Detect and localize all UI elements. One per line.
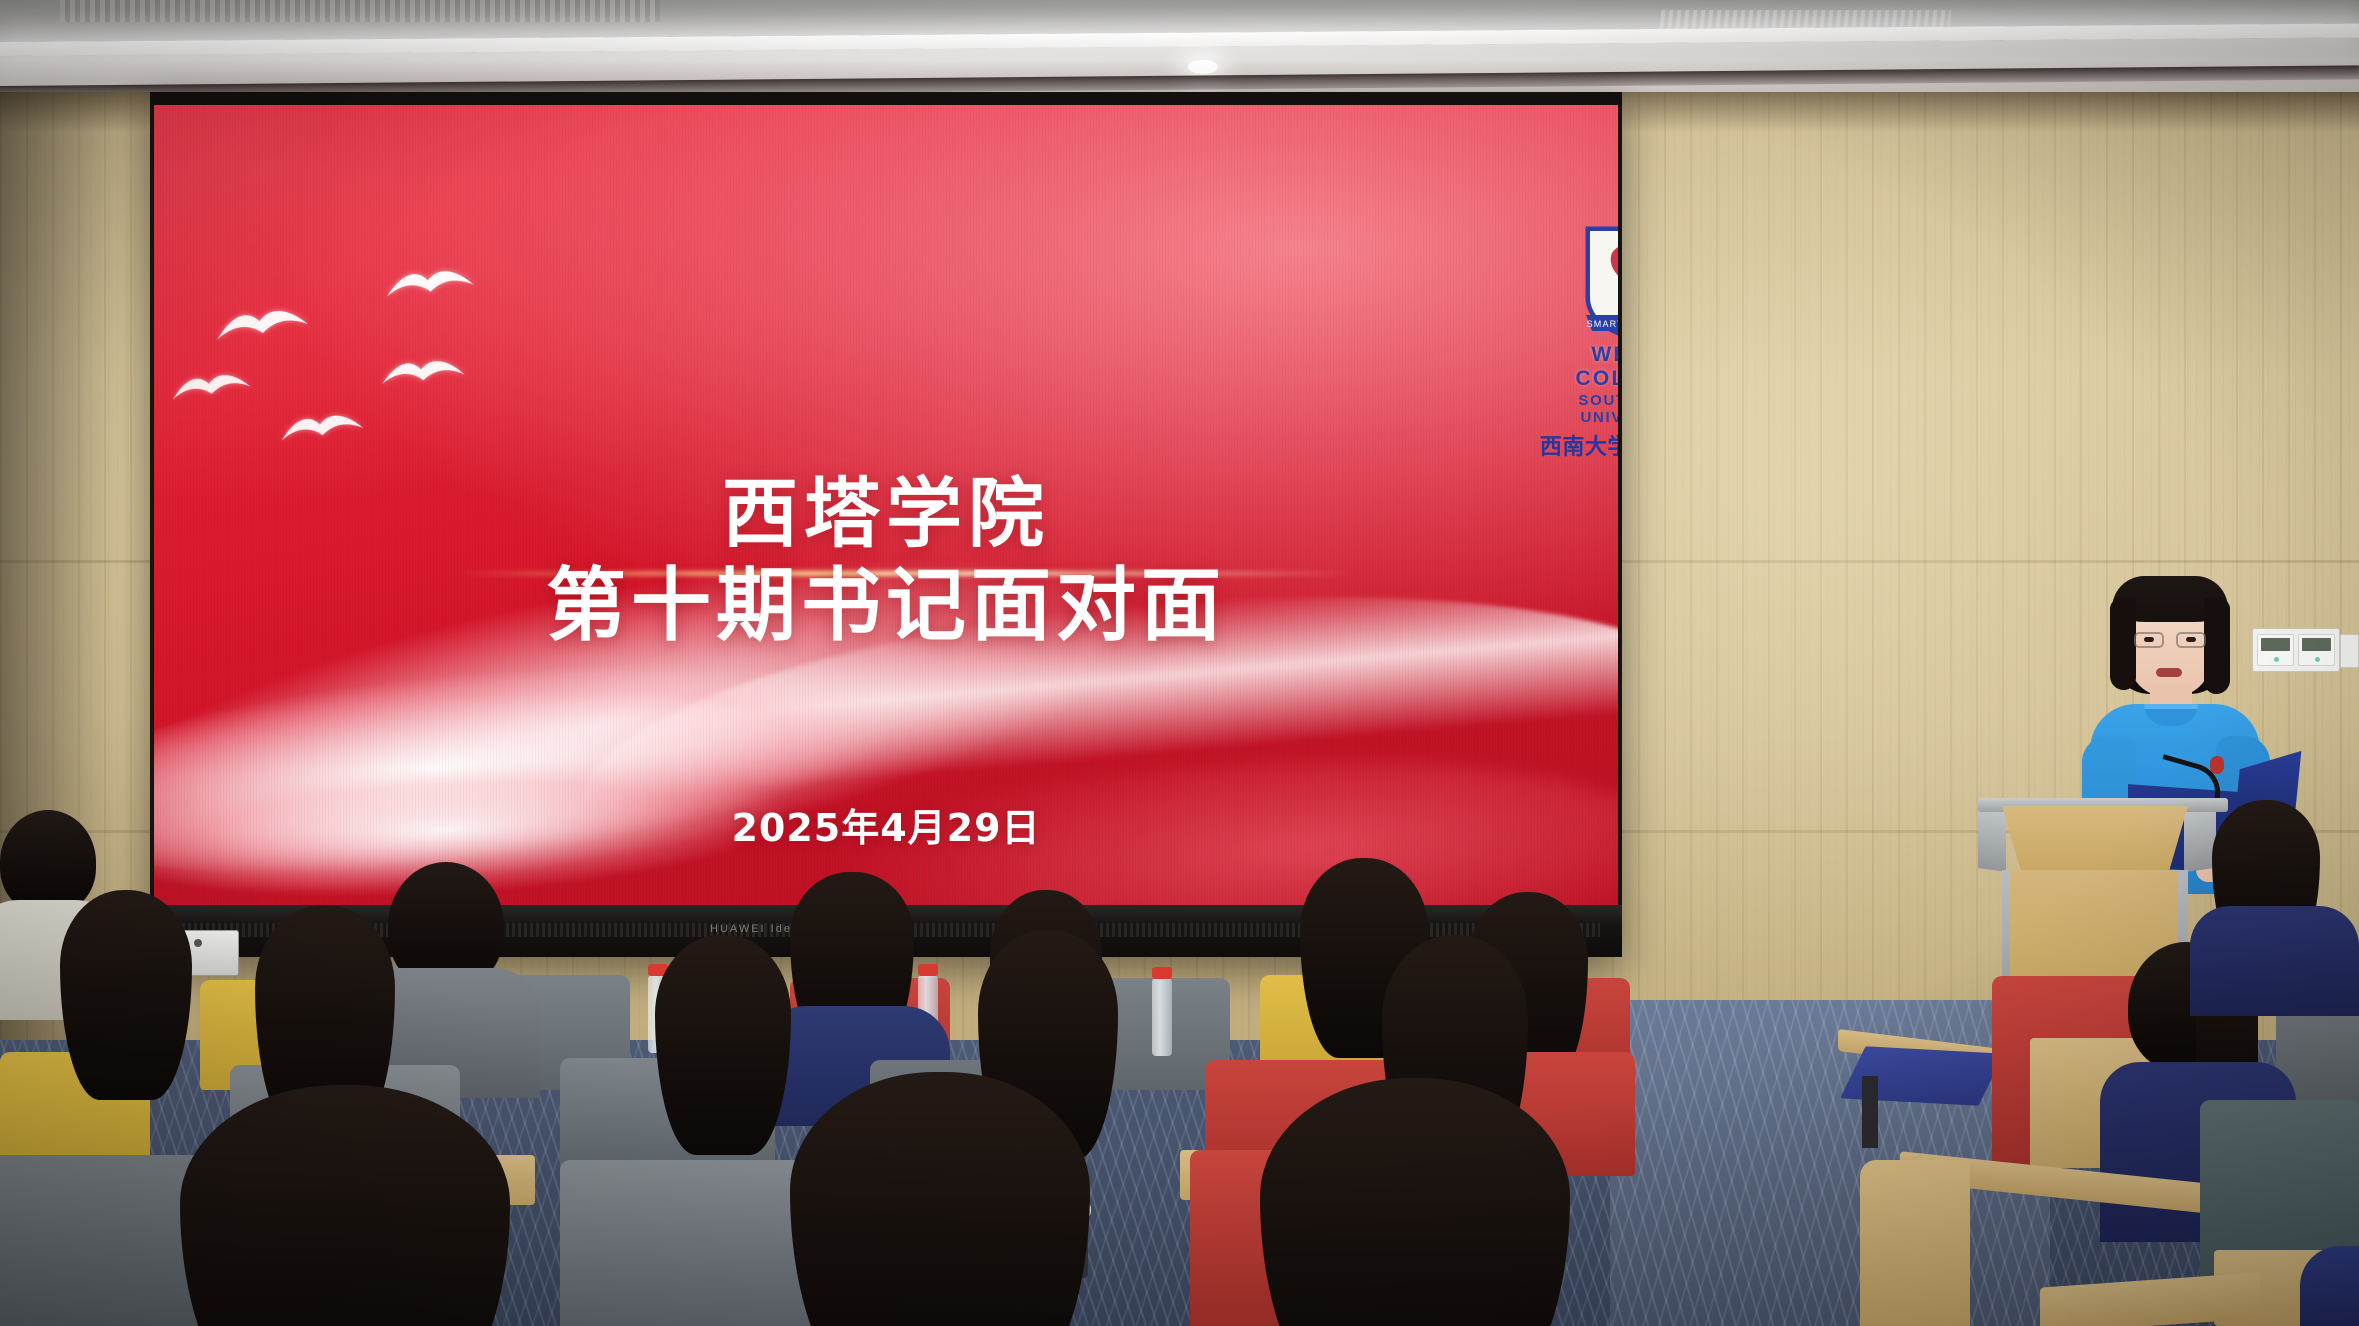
display-bezel <box>150 92 1622 106</box>
westa-crest-icon: SMART CREATIVE <box>1578 223 1618 341</box>
slide-date: 2025年4月29日 <box>154 797 1618 852</box>
conference-hall-scene: SMART CREATIVE WESTA COLLEGE SOUTHWEST U… <box>0 0 2359 1326</box>
audience-person <box>790 872 914 1012</box>
speaker-glasses <box>2134 632 2206 648</box>
speaker-mouth <box>2156 668 2182 677</box>
audience-person <box>2212 800 2320 920</box>
audience-person <box>60 890 192 1040</box>
dove-icon <box>383 262 477 306</box>
audience-person <box>255 905 395 1065</box>
audience-person <box>790 1072 1090 1326</box>
audience-person <box>180 1085 510 1326</box>
microphone-head <box>2210 756 2224 774</box>
dove-icon <box>378 353 468 394</box>
ceiling-downlight <box>1188 60 1218 74</box>
audience-person <box>1260 1078 1570 1326</box>
audience-person <box>978 930 1118 1088</box>
speaker-hair-right <box>2204 598 2230 694</box>
podium-front-panel <box>2002 806 2188 870</box>
logo-english-line-2: SOUTHWEST UNIVERSITY <box>1534 392 1618 426</box>
thermostat-unit[interactable] <box>2298 634 2335 666</box>
dove-icon <box>278 406 367 449</box>
display-screen[interactable]: SMART CREATIVE WESTA COLLEGE SOUTHWEST U… <box>154 105 1618 905</box>
slide-title-line-1: 西塔学院 <box>154 473 1618 555</box>
logo-chinese-line: 西南大学 西塔学院 <box>1534 429 1618 461</box>
wall-switch[interactable] <box>2340 634 2359 668</box>
slide-title-group: 西塔学院 第十期书记面对面 <box>154 473 1618 651</box>
ceiling-vent-left <box>60 0 660 22</box>
audience-person <box>655 935 791 1087</box>
audience-suit <box>2190 906 2359 1016</box>
water-bottle <box>1152 978 1172 1056</box>
desk-support <box>1862 1076 1878 1148</box>
speaker-hair-left <box>2110 598 2136 690</box>
college-logo: SMART CREATIVE WESTA COLLEGE SOUTHWEST U… <box>1534 223 1618 461</box>
logo-english-line-1: WESTA COLLEGE <box>1534 343 1618 391</box>
led-display[interactable]: SMART CREATIVE WESTA COLLEGE SOUTHWEST U… <box>150 92 1622 957</box>
slide-title-line-2: 第十期书记面对面 <box>154 561 1618 651</box>
podium-rail-left <box>1978 806 2006 872</box>
audience-person <box>1382 935 1528 1095</box>
seat-side-panel <box>1860 1160 1970 1326</box>
svg-text:SMART CREATIVE: SMART CREATIVE <box>1587 319 1618 329</box>
